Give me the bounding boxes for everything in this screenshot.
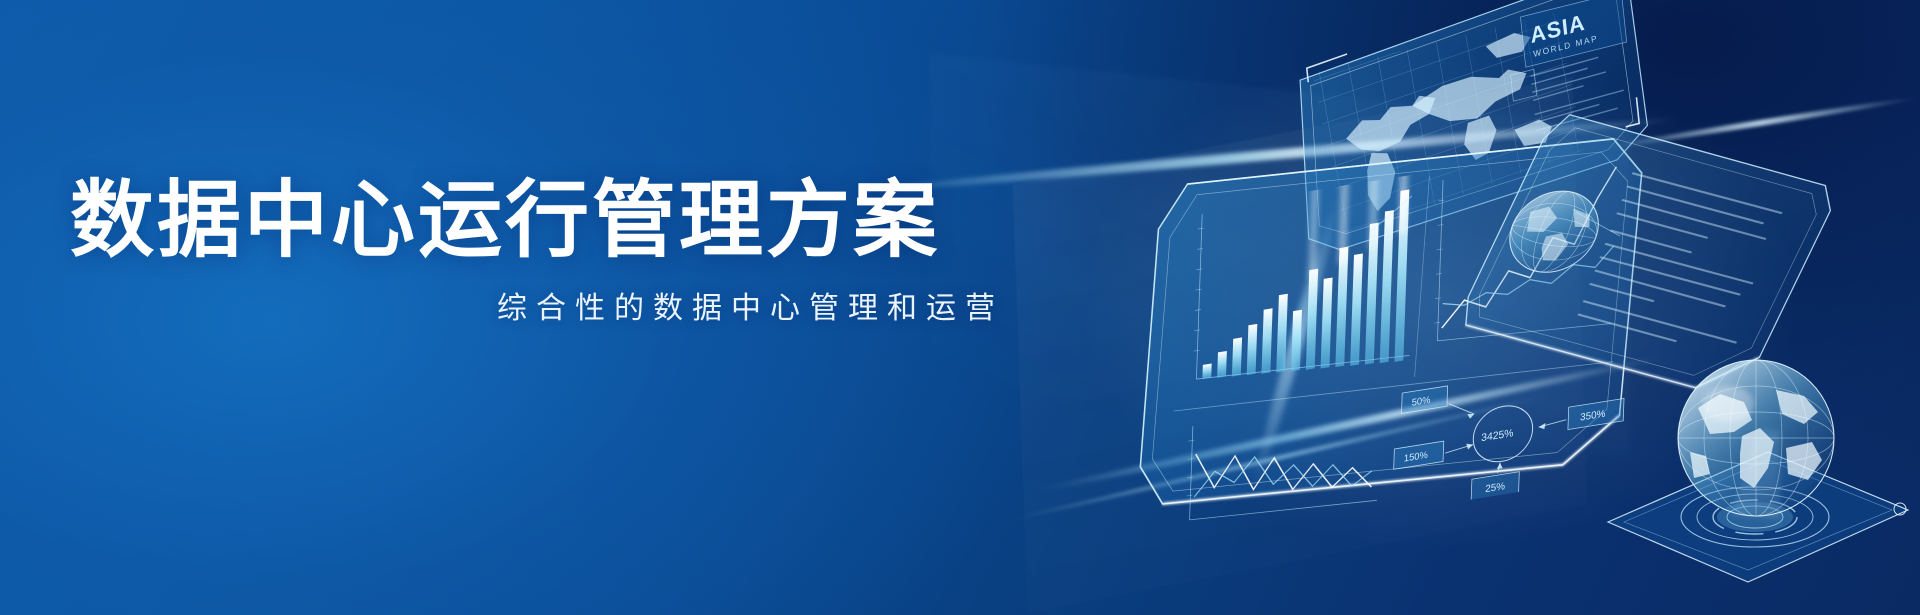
hero-banner: 数据中心运行管理方案 综合性的数据中心管理和运营 [0,0,1920,615]
banner-copy: 数据中心运行管理方案 综合性的数据中心管理和运营 [70,176,1030,327]
page-title: 数据中心运行管理方案 [70,176,1030,265]
hud-graphic: ASIA WORLD MAP [1040,0,1920,615]
page-subtitle: 综合性的数据中心管理和运营 [70,283,1030,327]
globe-large [1678,360,1834,516]
